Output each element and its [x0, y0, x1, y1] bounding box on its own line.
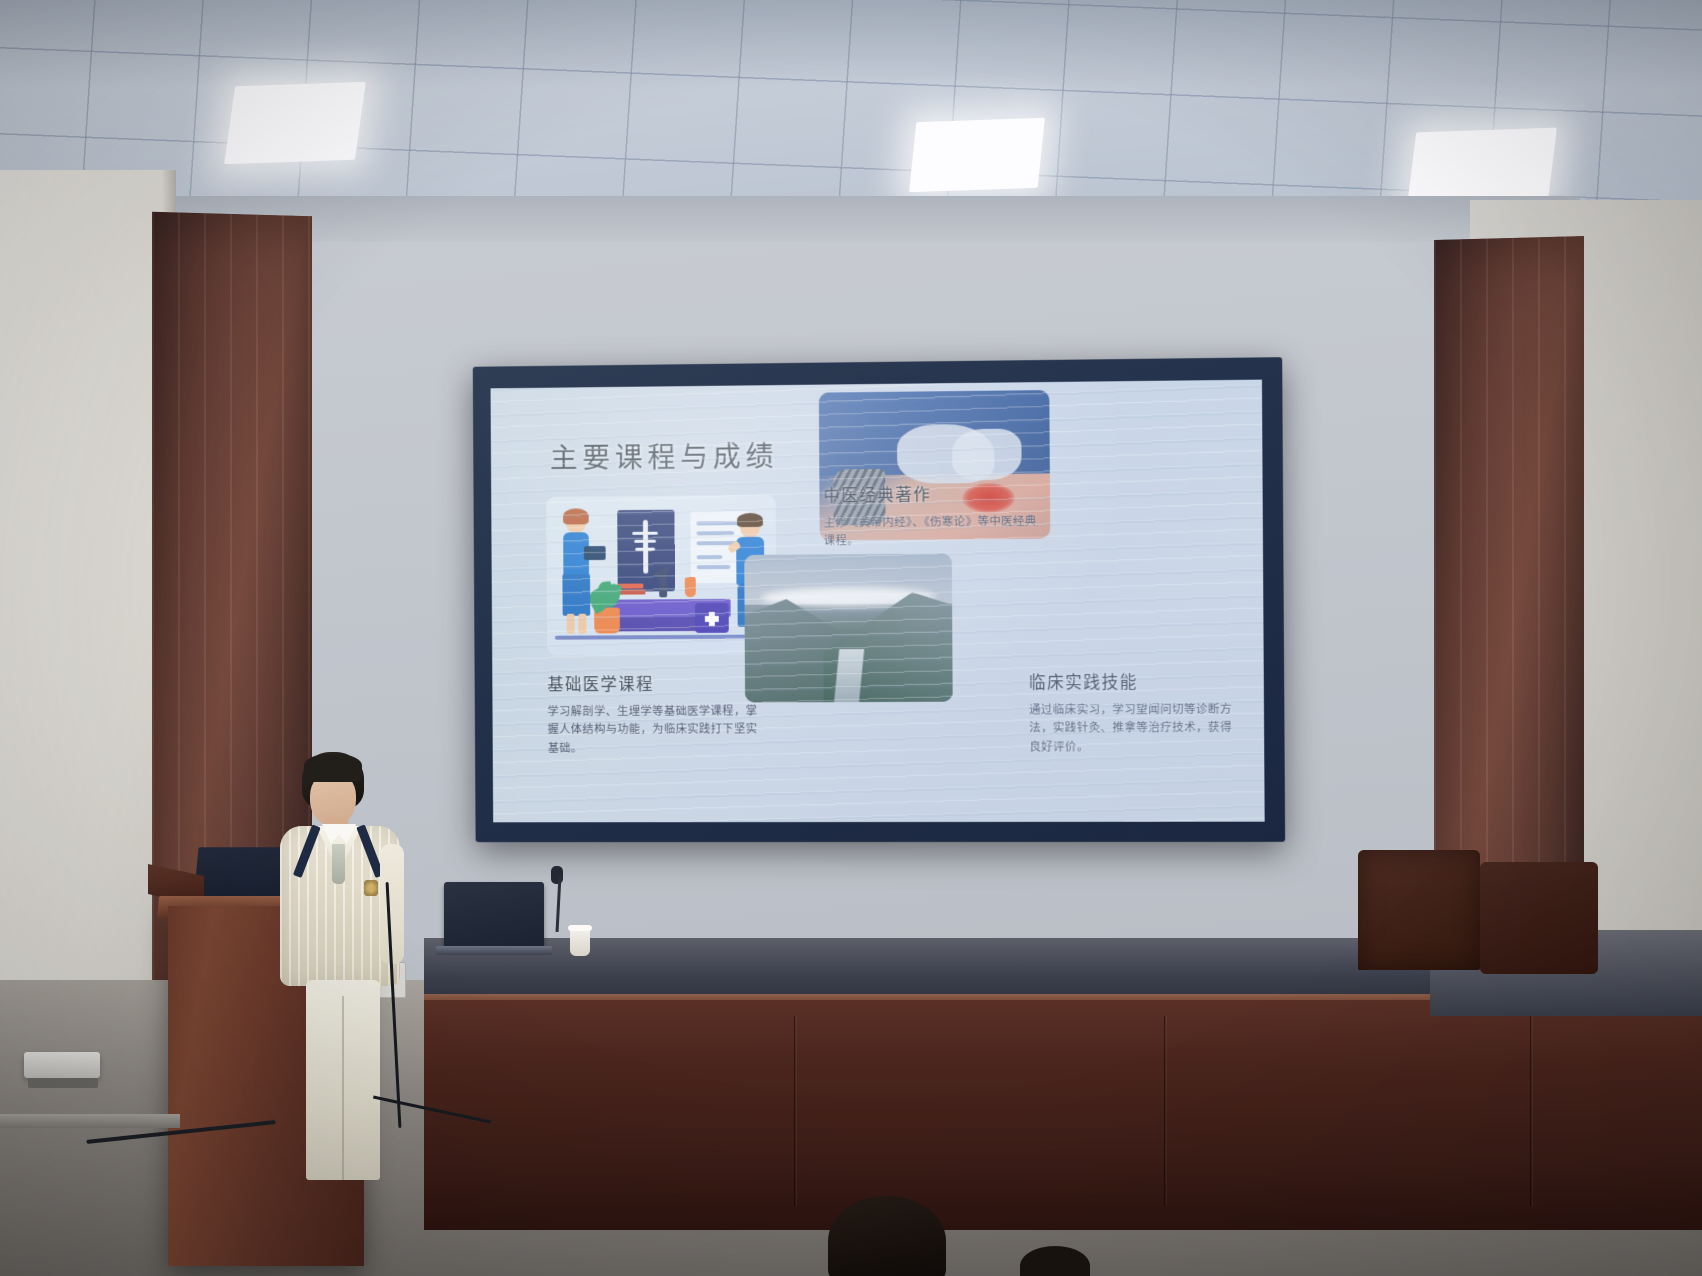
medical-bag-graphic [695, 603, 729, 633]
floor-equipment-box [24, 1052, 100, 1078]
chair-2 [1480, 862, 1598, 974]
speaker-fringe [304, 754, 362, 782]
card-clinical-skills: 临床实践技能 通过临床实习，学习望闻问切等诊断方法，实践针灸、推拿等治疗技术，获… [1029, 668, 1242, 756]
card-clinical-skills-title: 临床实践技能 [1029, 668, 1242, 693]
presenting-student [276, 752, 404, 1182]
laptop-keyboard-base[interactable] [436, 946, 552, 955]
audience-head-1 [828, 1196, 946, 1276]
card-basic-medicine-body: 学习解剖学、生理学等基础医学课程，掌握人体结构与功能，为临床实践打下坚实基础。 [547, 701, 759, 757]
card-tcm-classics-title: 中医经典著作 [823, 481, 1040, 507]
slide-title: 主要课程与成绩 [550, 435, 779, 477]
medical-illustration-image [546, 495, 776, 656]
card-tcm-classics: 中医经典著作 主修《黄帝内经》、《伤寒论》等中医经典课程。 [823, 481, 1040, 551]
flask-graphic [685, 577, 696, 597]
card-basic-medicine: 基础医学课程 学习解剖学、生理学等基础医学课程，掌握人体结构与功能，为临床实践打… [547, 671, 759, 758]
laptop-screen[interactable] [444, 882, 544, 948]
microscope-graphic [659, 571, 667, 597]
speaker-trousers [306, 980, 380, 1180]
projection-screen: 主要课程与成绩 [473, 357, 1285, 842]
wall-baseboard [0, 1114, 180, 1128]
ceiling-light-panel-2 [909, 118, 1045, 192]
ceiling-light-panel-3 [1407, 128, 1557, 207]
coffee-cup [570, 928, 590, 956]
card-tcm-classics-body: 主修《黄帝内经》、《伤寒论》等中医经典课程。 [824, 512, 1041, 551]
valley-photo-image [744, 553, 952, 702]
illustration-floor-line [555, 635, 769, 640]
lecture-hall-photo: 主要课程与成绩 [0, 0, 1702, 1276]
floor-equipment-base [28, 1078, 98, 1088]
speaker-tie [332, 844, 345, 884]
slide-content: 主要课程与成绩 [491, 380, 1265, 823]
speaker-right-arm [380, 844, 404, 964]
speaker-crest-badge [364, 880, 378, 896]
card-basic-medicine-title: 基础医学课程 [547, 671, 759, 696]
projected-slide: 主要课程与成绩 [491, 380, 1265, 823]
ceiling-light-panel-1 [224, 82, 366, 164]
card-clinical-skills-body: 通过临床实习，学习望闻问切等诊断方法，实践针灸、推拿等治疗技术，获得良好评价。 [1029, 700, 1242, 756]
chair-1 [1358, 850, 1480, 970]
conference-desk-front-panel [424, 1000, 1702, 1230]
wall-upper-band [160, 196, 1580, 242]
